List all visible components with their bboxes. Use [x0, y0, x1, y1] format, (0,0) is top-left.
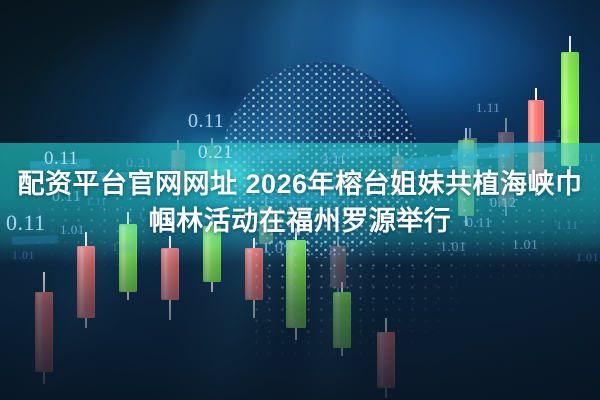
headline-line-2: 帼林活动在福州罗源举行	[0, 203, 600, 240]
promotional-banner: 0.110.110.111.011.111.011.011.110.210.11…	[0, 0, 600, 400]
headline: 配资平台官网网址 2026年榕台姐妹共植海峡巾 帼林活动在福州罗源举行	[0, 166, 600, 240]
headline-line-1: 配资平台官网网址 2026年榕台姐妹共植海峡巾	[0, 166, 600, 203]
